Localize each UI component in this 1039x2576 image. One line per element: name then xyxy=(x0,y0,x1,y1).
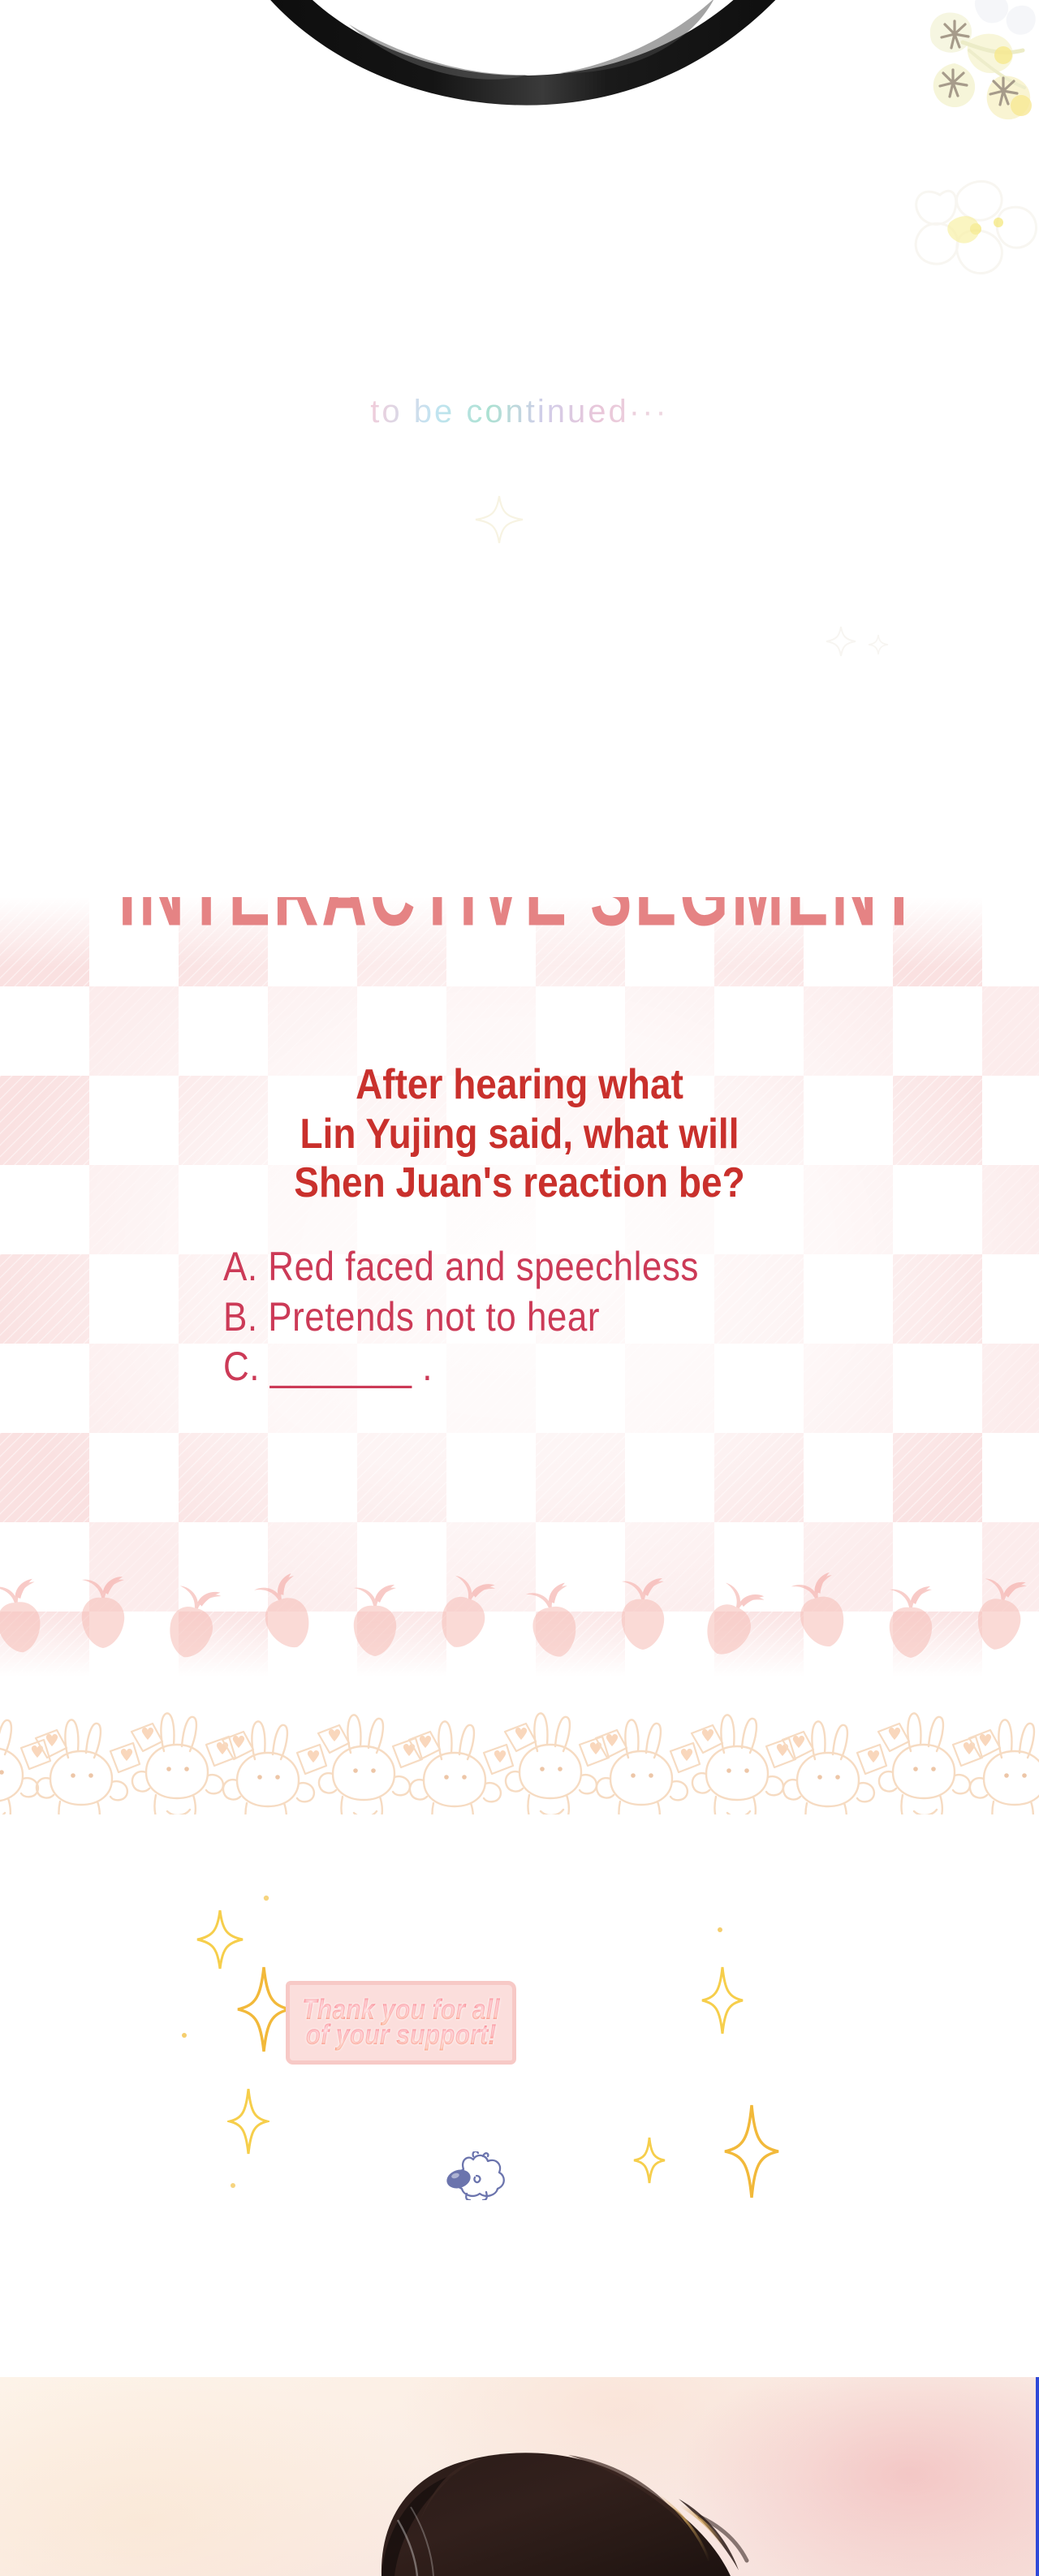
to-be-continued: to be continued··· xyxy=(0,394,1039,430)
to-be-continued-text: to be continued··· xyxy=(370,394,669,430)
thank-you-line: of your support! xyxy=(286,2021,516,2052)
sparkle-icon xyxy=(195,1908,245,1971)
sparkle-dot-icon xyxy=(714,1924,726,1935)
next-scene-teaser-panel xyxy=(0,2377,1039,2576)
option-item[interactable]: C. _______ . xyxy=(223,1339,954,1396)
sparkle-icon xyxy=(812,617,909,666)
sparkle-icon xyxy=(235,1965,292,2054)
sparkle-dot-icon xyxy=(260,1892,273,1905)
sparkle-icon xyxy=(632,2135,667,2186)
thank-you-box: Thank you for all of your support! xyxy=(286,1981,516,2065)
sparkle-icon xyxy=(471,491,528,548)
sheep-mascot-icon xyxy=(442,2151,515,2200)
interactive-segment-panel: INTERACTIVE SEGMENT After hearing what L… xyxy=(0,897,1039,1676)
sparkle-dot-icon xyxy=(227,2180,239,2191)
interactive-segment-title: INTERACTIVE SEGMENT xyxy=(0,897,1039,915)
watercolor-flowers-art xyxy=(795,0,1039,349)
thank-you-text: Thank you for all of your support! xyxy=(286,1997,516,2049)
sparkle-icon xyxy=(722,2103,781,2200)
bunny-pattern-art xyxy=(0,1693,1039,1814)
character-head-art xyxy=(0,2377,1039,2576)
question-line: After hearing what xyxy=(0,1056,1039,1111)
bunny-pattern-strip xyxy=(0,1693,1039,1814)
sparkle-icon xyxy=(700,1965,745,2036)
segment-question: After hearing what Lin Yujing said, what… xyxy=(0,1059,1039,1207)
sparkle-dot-icon xyxy=(179,2030,190,2041)
segment-title-text: INTERACTIVE SEGMENT xyxy=(119,897,921,948)
thank-you-zone: Thank you for all of your support! xyxy=(0,1900,1039,2289)
segment-options: A. Red faced and speechless B. Pretends … xyxy=(223,1242,954,1392)
episode-closing-panel: to be continued··· xyxy=(0,0,1039,812)
option-item[interactable]: A. Red faced and speechless xyxy=(223,1239,954,1296)
panel-edge-accent xyxy=(1036,2377,1039,2576)
sparkle-icon xyxy=(227,2086,269,2156)
webtoon-page: to be continued··· xyxy=(0,0,1039,2576)
option-item[interactable]: B. Pretends not to hear xyxy=(223,1288,954,1345)
question-line: Lin Yujing said, what will xyxy=(0,1106,1039,1161)
question-line: Shen Juan's reaction be? xyxy=(0,1155,1039,1210)
